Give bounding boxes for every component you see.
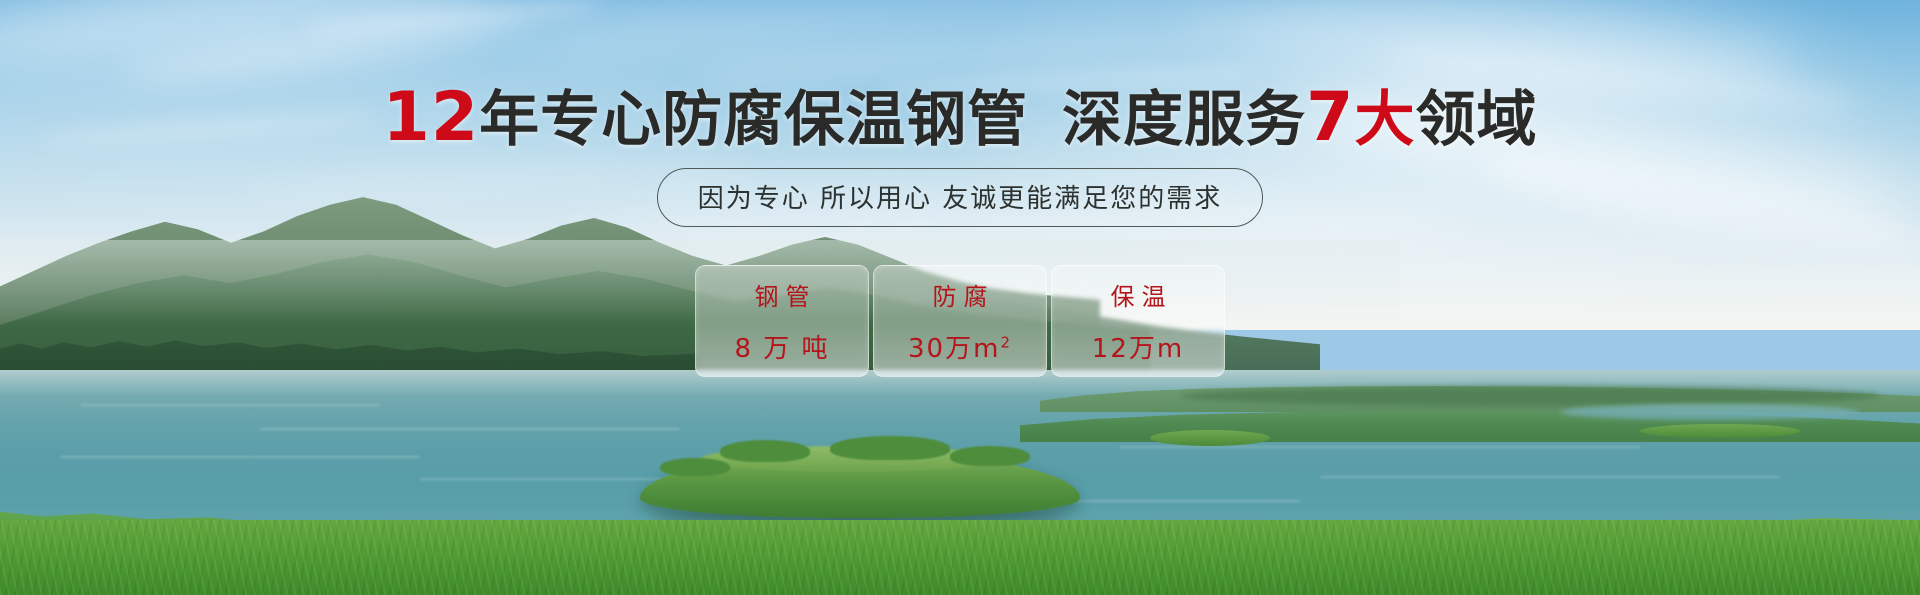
headline-part1: 年专心防腐保温钢管 bbox=[479, 85, 1028, 155]
stat-card-value: 12万m bbox=[1092, 328, 1184, 365]
stat-card-row: 钢管 8 万 吨 防腐 30万m2 保温 12万m bbox=[0, 265, 1920, 377]
stat-card-value: 30万m2 bbox=[908, 328, 1012, 365]
stat-card-title: 防腐 bbox=[926, 277, 995, 312]
subtitle-wrapper: 因为专心 所以用心 友诚更能满足您的需求 bbox=[0, 168, 1920, 227]
stat-card-insulation[interactable]: 保温 12万m bbox=[1051, 265, 1225, 377]
headline: 12年专心防腐保温钢管深度服务7大领域 bbox=[0, 82, 1920, 153]
headline-big: 大 bbox=[1354, 85, 1415, 155]
headline-part3: 领域 bbox=[1415, 85, 1537, 155]
stat-card-value-superscript: 2 bbox=[1000, 333, 1012, 351]
headline-years-number: 12 bbox=[383, 78, 480, 157]
stat-card-title: 钢管 bbox=[748, 277, 817, 312]
headline-part2: 深度服务 bbox=[1062, 85, 1306, 155]
stat-card-value: 8 万 吨 bbox=[734, 328, 829, 365]
stat-card-steel-pipe[interactable]: 钢管 8 万 吨 bbox=[695, 265, 869, 377]
stat-card-title: 保温 bbox=[1104, 277, 1173, 312]
subtitle-pill: 因为专心 所以用心 友诚更能满足您的需求 bbox=[657, 168, 1264, 227]
stat-card-value-text: 8 万 吨 bbox=[734, 334, 829, 364]
stat-card-anticorrosion[interactable]: 防腐 30万m2 bbox=[873, 265, 1047, 377]
stat-card-value-text: 12万m bbox=[1092, 334, 1184, 364]
headline-fields-number: 7 bbox=[1306, 78, 1354, 157]
stat-card-value-text: 30万m bbox=[908, 334, 1000, 364]
hero-banner: 12年专心防腐保温钢管深度服务7大领域 因为专心 所以用心 友诚更能满足您的需求… bbox=[0, 0, 1920, 595]
banner-content: 12年专心防腐保温钢管深度服务7大领域 因为专心 所以用心 友诚更能满足您的需求… bbox=[0, 0, 1920, 595]
